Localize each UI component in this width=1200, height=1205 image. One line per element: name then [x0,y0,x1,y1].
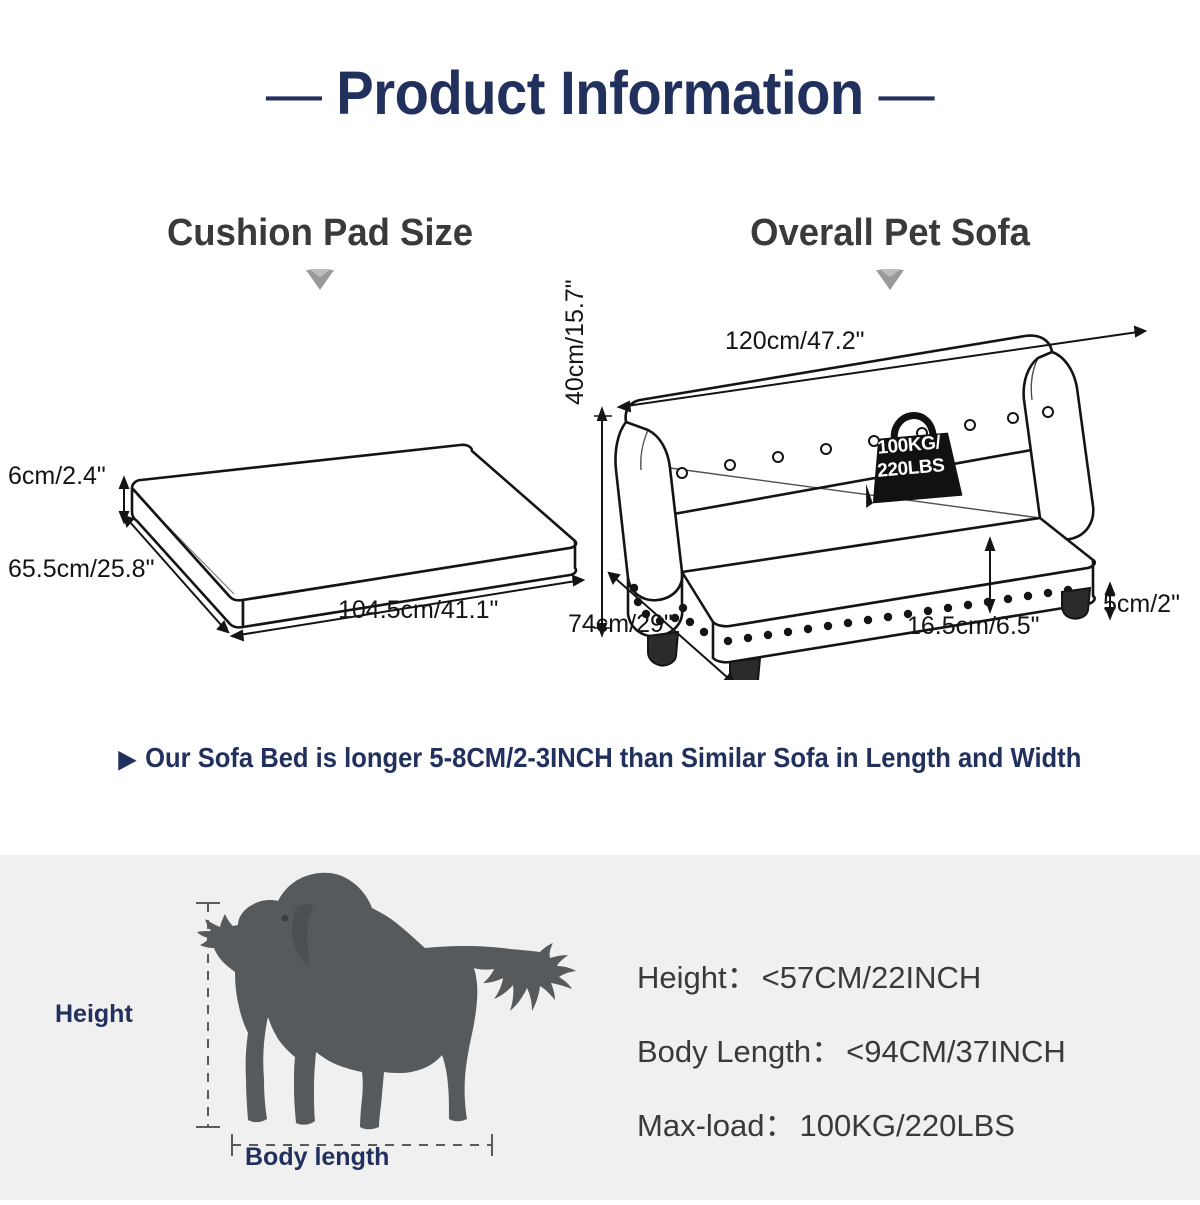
cushion-pad-drawing [0,400,600,690]
highlight-banner: ▶Our Sofa Bed is longer 5-8CM/2-3INCH th… [42,742,1158,774]
max-load-badge: 100KG/ 220LBS [854,408,966,509]
cushion-pad-diagram: 6cm/2.4" 65.5cm/25.8" 104.5cm/41.1" [0,400,600,690]
page-title: —Product Information— [48,58,1152,128]
title-dash-right: — [864,58,949,128]
highlight-banner-text: Our Sofa Bed is longer 5-8CM/2-3INCH tha… [145,742,1081,773]
play-triangle-icon: ▶ [119,745,136,774]
sofa-section-heading: Overall Pet Sofa [650,212,1130,255]
spec-row: Max-load：100KG/220LBS [637,1100,1066,1145]
cushion-section-heading: Cushion Pad Size [80,212,560,255]
spec-row: Body Length：<94CM/37INCH [637,1026,1066,1071]
sofa-height-label: 40cm/15.7" [561,279,590,405]
spec-value: <94CM/37INCH [846,1034,1066,1069]
cushion-depth-label: 65.5cm/25.8" [8,555,154,584]
spec-value: <57CM/22INCH [762,960,982,995]
dog-height-label: Height [55,1000,133,1029]
cushion-width-label: 104.5cm/41.1" [338,596,498,625]
sofa-seat-height-label: 16.5cm/6.5" [907,612,1040,641]
sofa-leg-height-label: 5cm/2" [1103,590,1180,619]
spec-value: 100KG/220LBS [800,1108,1015,1143]
max-load-badge-text: 100KG/ 220LBS [856,430,964,485]
sofa-width-label: 120cm/47.2" [725,327,865,356]
chevron-down-icon [303,268,337,292]
title-text: Product Information [336,59,864,127]
dog-bodylength-label: Body length [245,1143,389,1172]
spec-label: Height： [637,960,758,995]
cushion-thickness-label: 6cm/2.4" [8,462,106,491]
dog-spec-list: Height：<57CM/22INCH Body Length：<94CM/37… [637,952,1066,1174]
spec-label: Body Length： [637,1034,842,1069]
spec-row: Height：<57CM/22INCH [637,952,1066,997]
spec-label: Max-load： [637,1108,796,1143]
chevron-down-icon [873,268,907,292]
sofa-height-arrow [594,409,612,635]
title-dash-left: — [251,58,336,128]
product-information-infographic: —Product Information— Cushion Pad Size O… [0,0,1200,1200]
sofa-depth-label: 74cm/29" [568,610,673,639]
